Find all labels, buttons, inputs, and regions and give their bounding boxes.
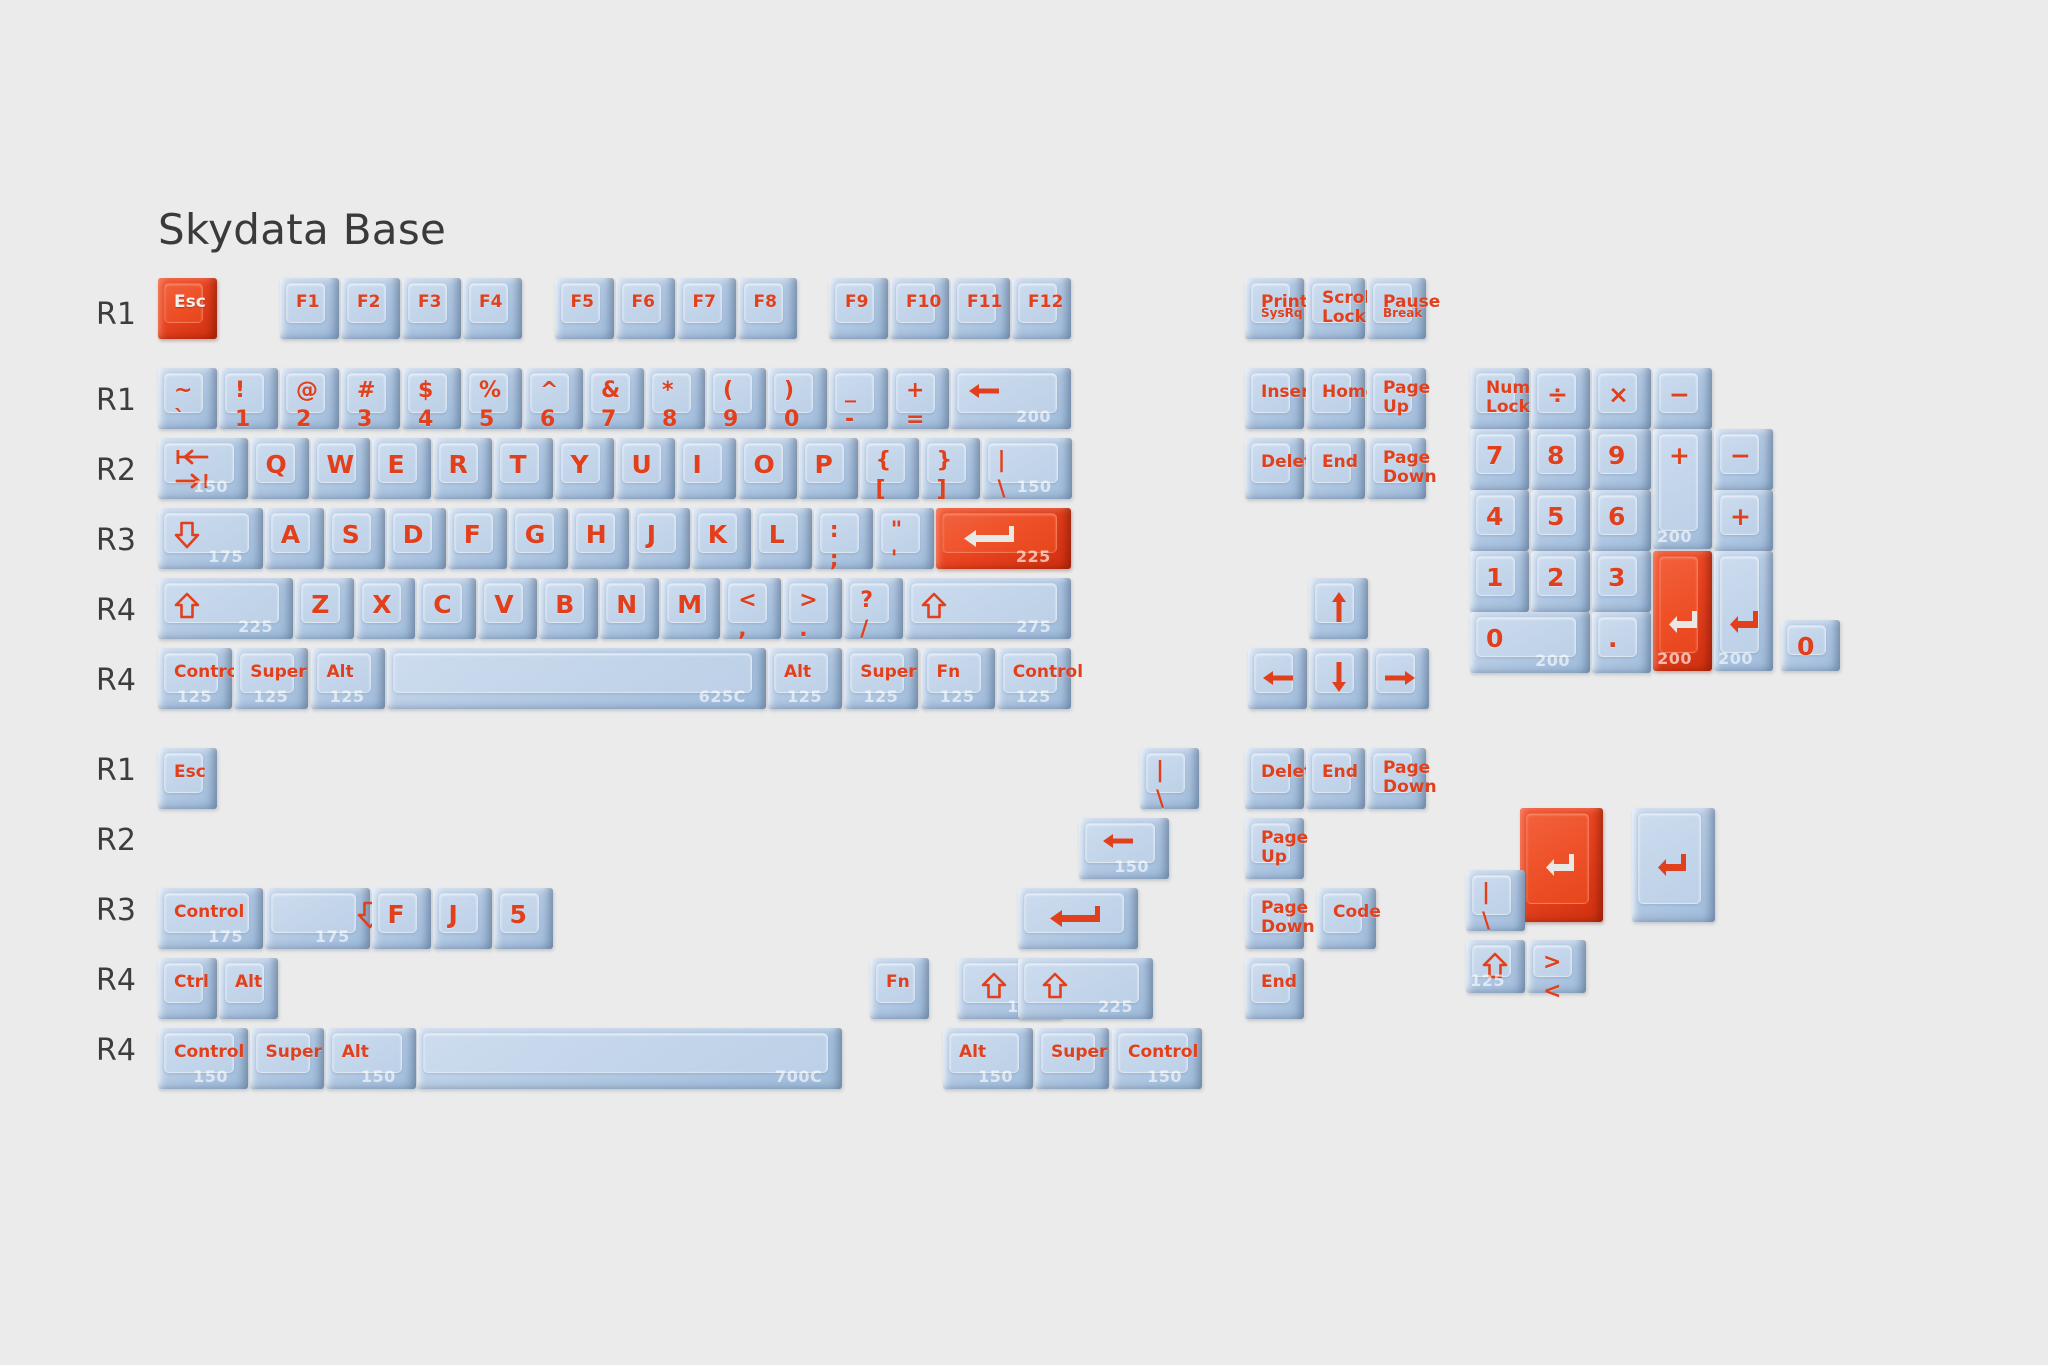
keycap-legend: 6 [540, 409, 555, 431]
keycap-d[interactable]: D [387, 508, 446, 569]
keycap-fn[interactable]: Fn125 [921, 648, 995, 709]
keycap-legend: F10 [906, 294, 941, 311]
keycap-esc-alt[interactable]: Esc [158, 748, 217, 809]
keycap-f2[interactable]: F2 [341, 278, 400, 339]
keycap-numpad-3[interactable]: 3 [1592, 551, 1651, 612]
keycap-numpad-9[interactable]: 9 [1592, 429, 1651, 490]
keycap-size-label: 225 [1098, 997, 1133, 1016]
keycap-numpad-1[interactable]: 1 [1470, 551, 1529, 612]
keycap-legend: Fn [937, 664, 961, 681]
keycap-f7[interactable]: F7 [677, 278, 736, 339]
keycap-size-label: 175 [208, 927, 243, 946]
keycap-legend: Lock [1322, 309, 1366, 326]
keycap-size-label: 150 [1114, 857, 1149, 876]
keycap-legend: | [998, 450, 1006, 472]
keycap-top-surface [439, 893, 478, 933]
keycap-legend: ; [830, 549, 839, 571]
keycap-f8[interactable]: F8 [738, 278, 797, 339]
keycap-legend: & [601, 380, 620, 402]
keycap-home[interactable]: Home [1306, 368, 1365, 429]
keycap-delete-alt[interactable]: Delete [1245, 748, 1304, 809]
keycap-enter-alt[interactable] [1018, 888, 1138, 949]
keycap-legend: R [449, 452, 468, 477]
keycap-legend: Alt [235, 974, 262, 991]
keycap-legend: Up [1261, 849, 1287, 866]
keycap-c[interactable]: C [417, 578, 476, 639]
keycap-legend: F5 [571, 294, 594, 311]
keycap-legend: Fn [886, 974, 910, 991]
keycap-alt-alt-150[interactable]: Alt150 [326, 1028, 416, 1089]
keycap-legend: B [555, 592, 574, 617]
keycap-numpad-7[interactable]: 7 [1470, 429, 1529, 490]
keycap-legend: U [632, 452, 652, 477]
keycap-numpad-5[interactable]: 5 [1531, 490, 1590, 551]
keycap-super-left[interactable]: Super125 [234, 648, 308, 709]
keycap-legend: | [1482, 882, 1490, 904]
keycap-legend: 3 [1608, 565, 1625, 590]
keycap-legend: ) [784, 380, 794, 402]
keycap-legend: Page [1261, 830, 1308, 847]
keycap-legend: × [1608, 382, 1629, 407]
keycap-super-alt[interactable]: Super [250, 1028, 324, 1089]
arrow-down-icon [1329, 660, 1349, 698]
keycap-f5[interactable]: F5 [555, 278, 614, 339]
keycap-arrow-left[interactable] [1248, 648, 1307, 709]
keycap-legend: 4 [418, 409, 433, 431]
keycap-top-surface [423, 1033, 828, 1073]
keycap-control-150[interactable]: Control150 [1112, 1028, 1202, 1089]
keycap-numpad-0-alt[interactable]: 0 [1781, 620, 1840, 671]
row-label-r1-extra: R1 [96, 753, 156, 788]
keycap-legend: Ctrl [174, 974, 209, 991]
keycap-equals[interactable]: += [890, 368, 949, 429]
keycap-h[interactable]: H [570, 508, 629, 569]
keycap-size-label: 125 [863, 687, 898, 706]
keycap-f11[interactable]: F11 [951, 278, 1010, 339]
keycap-page-up-alt[interactable]: PageUp [1245, 818, 1304, 879]
keycap-f9[interactable]: F9 [829, 278, 888, 339]
keycap-q[interactable]: Q [250, 438, 309, 499]
keycap-legend: 7 [1486, 443, 1503, 468]
keycap-legend: | [1156, 760, 1164, 782]
keycap-numpad-plus[interactable]: +200 [1653, 429, 1712, 549]
keycap-backspace-150[interactable]: 150 [1079, 818, 1169, 879]
arrow-up-icon [1329, 590, 1349, 628]
keycap-legend: F11 [967, 294, 1002, 311]
keycap-legend: 5 [510, 902, 527, 927]
keycap-size-label: 225 [238, 617, 273, 636]
keycap-legend: ] [937, 479, 947, 501]
keycap-numpad-enter[interactable]: 200 [1653, 551, 1712, 671]
row-label-r4: R4 [96, 593, 156, 628]
keycap-legend: - [845, 409, 854, 431]
keycap-page-down-alt2[interactable]: PageDown [1245, 888, 1304, 949]
keycap-digit-7[interactable]: &7 [585, 368, 644, 429]
keycap-semicolon[interactable]: :; [814, 508, 873, 569]
keycap-caps-alt-175[interactable]: 175 [265, 888, 370, 949]
keycap-bracket-right[interactable]: }] [921, 438, 980, 499]
keycap-control-right[interactable]: Control125 [997, 648, 1071, 709]
keycap-legend: W [327, 452, 355, 477]
keycap-esc[interactable]: Esc [158, 278, 217, 339]
keycap-legend: F4 [479, 294, 502, 311]
keycap-legend: − [1730, 443, 1751, 468]
keycap-legend: ` [174, 409, 185, 431]
keycap-size-label: 125 [177, 687, 212, 706]
keycap-j[interactable]: J [631, 508, 690, 569]
keycap-numpad-2[interactable]: 2 [1531, 551, 1590, 612]
keycap-legend: : [830, 520, 839, 542]
keycap-legend: \ [1156, 789, 1164, 811]
keycap-legend: 4 [1486, 504, 1503, 529]
keycap-k[interactable]: K [692, 508, 751, 569]
keycap-legend: . [1608, 626, 1618, 651]
keycap-legend: Break [1383, 307, 1422, 319]
keycap-numpad-enter-alt[interactable]: 200 [1714, 551, 1773, 671]
keycap-legend: C [433, 592, 451, 617]
keycap-legend: Down [1383, 469, 1437, 486]
keycap-numpad-minus[interactable]: − [1653, 368, 1712, 429]
keycap-legend: F [464, 522, 481, 547]
keycap-numpad-4[interactable]: 4 [1470, 490, 1529, 551]
keycap-legend: − [1669, 382, 1690, 407]
keycap-f4[interactable]: F4 [463, 278, 522, 339]
keycap-legend: \ [1482, 911, 1490, 933]
keycap-legend: Control [174, 904, 244, 921]
keycap-size-label: 150 [361, 1067, 396, 1086]
keycap-control-alt-150[interactable]: Control150 [158, 1028, 248, 1089]
row-label-r4-extra: R4 [96, 963, 156, 998]
keycap-top-surface [1472, 875, 1511, 915]
row-label-r1-fn: R1 [96, 297, 156, 332]
keycap-legend: K [708, 522, 727, 547]
keycap-a[interactable]: A [265, 508, 324, 569]
keycap-quote[interactable]: "' [875, 508, 934, 569]
keycap-digit-9[interactable]: (9 [707, 368, 766, 429]
keycap-caps-lock[interactable]: 175 [158, 508, 263, 569]
keycap-size-label: 175 [208, 547, 243, 566]
keycap-f3[interactable]: F3 [402, 278, 461, 339]
keycap-page-down-alt[interactable]: PageDown [1367, 748, 1426, 809]
keycap-f10[interactable]: F10 [890, 278, 949, 339]
keycap-num-lock[interactable]: NumLock [1470, 368, 1529, 429]
keycap-delete[interactable]: Delete [1245, 438, 1304, 499]
keycap-legend: F1 [296, 294, 319, 311]
keycap-top-surface [1146, 753, 1185, 793]
keycap-numpad-divide[interactable]: ÷ [1531, 368, 1590, 429]
keycap-size-label: 200 [1657, 527, 1692, 546]
keycap-alt-short[interactable]: Alt [219, 958, 278, 1019]
keycap-legend: F [388, 902, 405, 927]
keycap-legend: Super [860, 664, 916, 681]
keycap-space[interactable]: 625C [387, 648, 766, 709]
keycap-period[interactable]: >. [783, 578, 842, 639]
keycap-b[interactable]: B [539, 578, 598, 639]
keycap-iso-shift[interactable]: 125 [1466, 940, 1525, 993]
row-label-r3-extra: R3 [96, 893, 156, 928]
keycap-size-label: 150 [193, 1067, 228, 1086]
keycap-alt-right[interactable]: Alt125 [768, 648, 842, 709]
keycap-numpad-plus-alt[interactable]: + [1714, 490, 1773, 551]
keycap-legend: Z [311, 592, 329, 617]
keycap-top-surface [1598, 617, 1637, 657]
keycap-legend: ^ [540, 380, 558, 402]
keycap-legend: Super [266, 1044, 322, 1061]
keycap-size-label: 150 [1017, 477, 1052, 496]
keycap-numpad-0[interactable]: 0200 [1470, 612, 1590, 673]
keycap-legend: Alt [327, 664, 354, 681]
keycap-end-alt[interactable]: End [1306, 748, 1365, 809]
keycap-five-homing[interactable]: 5 [494, 888, 553, 949]
keycap-legend: SysRq [1261, 307, 1302, 319]
keycap-backslash[interactable]: |\150 [982, 438, 1072, 499]
keycap-size-label: 200 [1016, 407, 1051, 426]
keycap-legend: Control [174, 1044, 244, 1061]
keycap-pause[interactable]: PauseBreak [1367, 278, 1426, 339]
keycap-legend: 0 [1486, 626, 1503, 651]
keycap-legend: Control [1128, 1044, 1198, 1061]
keycap-legend: @ [296, 380, 318, 402]
keycap-e[interactable]: E [372, 438, 431, 499]
keycap-legend: G [525, 522, 546, 547]
keycap-alt-left[interactable]: Alt125 [311, 648, 385, 709]
keycap-legend: / [860, 619, 868, 641]
keycap-ctrl-short[interactable]: Ctrl [158, 958, 217, 1019]
keycap-legend: [ [876, 479, 886, 501]
keycap-legend: ' [891, 549, 898, 571]
keycap-numpad-minus-alt[interactable]: − [1714, 429, 1773, 490]
keycap-page-down[interactable]: PageDown [1367, 438, 1426, 499]
keycap-iso-backslash[interactable]: |\ [1466, 870, 1525, 931]
keycap-legend: ! [235, 380, 245, 402]
keycap-legend: E [388, 452, 405, 477]
keycap-bracket-left[interactable]: {[ [860, 438, 919, 499]
keycap-size-label: 125 [1470, 971, 1505, 990]
keycap-minus[interactable]: _- [829, 368, 888, 429]
keycap-arrow-right[interactable] [1370, 648, 1429, 709]
caps-icon [174, 520, 200, 554]
keycap-legend: ? [860, 590, 873, 612]
keycap-w[interactable]: W [311, 438, 370, 499]
keycap-legend: 3 [357, 409, 372, 431]
keycap-legend: Control [1013, 664, 1083, 681]
keycap-control-alt-175[interactable]: Control175 [158, 888, 263, 949]
keycap-backspace[interactable]: 200 [951, 368, 1071, 429]
keycap-iso-enter-blue[interactable] [1632, 808, 1715, 922]
keycap-legend: $ [418, 380, 433, 402]
keycap-digit-0[interactable]: )0 [768, 368, 827, 429]
keycap-legend: End [1322, 454, 1358, 471]
keycap-legend: Page [1383, 760, 1430, 777]
keycap-legend: . [799, 619, 807, 641]
keycap-insert[interactable]: Insert [1245, 368, 1304, 429]
keycap-legend: 0 [1797, 634, 1814, 659]
keycap-legend: Esc [174, 764, 206, 781]
keycap-z[interactable]: Z [295, 578, 354, 639]
keycap-p[interactable]: P [799, 438, 858, 499]
keycap-l[interactable]: L [753, 508, 812, 569]
keycap-digit-5[interactable]: %5 [463, 368, 522, 429]
keycap-m[interactable]: M [661, 578, 720, 639]
keycap-legend: M [677, 592, 702, 617]
enter-icon-sm [1544, 852, 1578, 886]
keycap-f6[interactable]: F6 [616, 278, 675, 339]
keycap-super-150[interactable]: Super [1035, 1028, 1109, 1089]
keycap-legend: P [815, 452, 833, 477]
keycap-legend: ~ [174, 380, 192, 402]
keycap-legend: 5 [1547, 504, 1564, 529]
keycap-f1[interactable]: F1 [280, 278, 339, 339]
keycap-o[interactable]: O [738, 438, 797, 499]
row-label-r4-mods: R4 [96, 663, 156, 698]
keycap-legend: , [738, 619, 746, 641]
keycap-legend: 2 [296, 409, 311, 431]
keycap-digit-3[interactable]: #3 [341, 368, 400, 429]
keycap-size-label: 125 [1016, 687, 1051, 706]
keycap-s[interactable]: S [326, 508, 385, 569]
keycap-n[interactable]: N [600, 578, 659, 639]
keycap-legend: J [647, 522, 656, 547]
keycap-arrow-up[interactable] [1309, 578, 1368, 639]
keycap-digit-1[interactable]: !1 [219, 368, 278, 429]
keycap-control-left[interactable]: Control125 [158, 648, 232, 709]
keycap-f-homing[interactable]: F [372, 888, 431, 949]
keycap-size-label: 125 [940, 687, 975, 706]
keycap-size-label: 125 [330, 687, 365, 706]
keycap-legend: J [449, 902, 458, 927]
keycap-print[interactable]: PrintSysRq [1245, 278, 1304, 339]
row-label-r3: R3 [96, 523, 156, 558]
keycap-u[interactable]: U [616, 438, 675, 499]
shift-icon [1042, 972, 1068, 1004]
keycap-legend: Num [1486, 380, 1530, 397]
keycap-legend: O [754, 452, 775, 477]
keycap-size-label: 200 [1535, 651, 1570, 670]
keycap-space-700[interactable]: 700C [417, 1028, 842, 1089]
keycap-legend: 7 [601, 409, 616, 431]
keycap-shift-left[interactable]: 225 [158, 578, 293, 639]
keycap-numpad-period[interactable]: . [1592, 612, 1651, 673]
keycap-t[interactable]: T [494, 438, 553, 499]
keycap-x[interactable]: X [356, 578, 415, 639]
keycap-digit-4[interactable]: $4 [402, 368, 461, 429]
keycap-arrow-down[interactable] [1309, 648, 1368, 709]
keycap-iso-angle[interactable]: >< [1527, 940, 1586, 993]
keycap-legend: Super [1051, 1044, 1107, 1061]
keycap-fn-alt[interactable]: Fn [870, 958, 929, 1019]
enter-icon-sm [1728, 609, 1762, 643]
keycap-size-label: 200 [1657, 649, 1692, 668]
keycap-numpad-8[interactable]: 8 [1531, 429, 1590, 490]
keycap-end[interactable]: End [1306, 438, 1365, 499]
keycap-size-label: 150 [1147, 1067, 1182, 1086]
keycap-legend: _ [845, 380, 856, 402]
keycap-comma[interactable]: <, [722, 578, 781, 639]
keycap-g[interactable]: G [509, 508, 568, 569]
keycap-legend: D [403, 522, 424, 547]
keycap-f12[interactable]: F12 [1012, 278, 1071, 339]
keycap-r[interactable]: R [433, 438, 492, 499]
keycap-legend: 9 [723, 409, 738, 431]
keycap-legend: Page [1261, 900, 1308, 917]
keycap-legend: A [281, 522, 300, 547]
keycap-size-label: 275 [1016, 617, 1051, 636]
row-label-r1-num: R1 [96, 383, 156, 418]
keycap-legend: = [906, 409, 924, 431]
keycap-legend: T [510, 452, 527, 477]
keycap-size-label: 225 [1016, 547, 1051, 566]
keycap-shift-right[interactable]: 275 [905, 578, 1071, 639]
keycap-enter[interactable]: 225 [936, 508, 1071, 569]
keycap-legend: F7 [693, 294, 716, 311]
keycap-legend: F2 [357, 294, 380, 311]
keycap-backslash-alt[interactable]: |\ [1140, 748, 1199, 809]
keycap-y[interactable]: Y [555, 438, 614, 499]
keycap-shift-225[interactable]: 225 [1018, 958, 1153, 1019]
keycap-v[interactable]: V [478, 578, 537, 639]
keycap-legend: Down [1383, 779, 1437, 796]
keycap-size-label: 700C [775, 1067, 822, 1086]
keycap-legend: Esc [174, 294, 206, 311]
keycap-scroll-lock[interactable]: ScrollLock [1306, 278, 1365, 339]
keycap-legend: 6 [1608, 504, 1625, 529]
enter-icon-sm [1656, 852, 1690, 886]
keycap-size-label: 125 [787, 687, 822, 706]
keycap-legend: } [937, 450, 953, 472]
keycap-legend: 5 [479, 409, 494, 431]
keycap-legend: F8 [754, 294, 777, 311]
keycap-legend: { [876, 450, 892, 472]
keycap-code[interactable]: Code [1317, 888, 1376, 949]
keycap-j-homing[interactable]: J [433, 888, 492, 949]
keycap-digit-2[interactable]: @2 [280, 368, 339, 429]
keycap-tab[interactable]: 150 [158, 438, 248, 499]
shift-icon [174, 592, 200, 624]
keycap-legend: F9 [845, 294, 868, 311]
keycap-numpad-6[interactable]: 6 [1592, 490, 1651, 551]
keycap-f[interactable]: F [448, 508, 507, 569]
keycap-legend: Code [1333, 904, 1381, 921]
keycap-legend: < [1543, 981, 1561, 1003]
keycap-top-surface [637, 513, 676, 553]
keycap-alt-150[interactable]: Alt150 [943, 1028, 1033, 1089]
keycap-grave[interactable]: ~` [158, 368, 217, 429]
enter-icon [1048, 904, 1102, 936]
keycap-iso-enter-red[interactable] [1520, 808, 1603, 922]
keycap-legend: \ [998, 479, 1006, 501]
keycap-size-label: 625C [699, 687, 746, 706]
keycap-legend: Alt [342, 1044, 369, 1061]
enter-icon-sm [1667, 609, 1701, 643]
keycap-legend: < [738, 590, 756, 612]
keycap-legend: > [799, 590, 817, 612]
keycap-i[interactable]: I [677, 438, 736, 499]
keycap-super-right[interactable]: Super125 [844, 648, 918, 709]
keycap-page-up[interactable]: PageUp [1367, 368, 1426, 429]
keycap-end-alt2[interactable]: End [1245, 958, 1304, 1019]
keycap-legend: 8 [662, 409, 677, 431]
keycap-numpad-multiply[interactable]: × [1592, 368, 1651, 429]
keycap-slash[interactable]: ?/ [844, 578, 903, 639]
keycap-digit-6[interactable]: ^6 [524, 368, 583, 429]
keycap-legend: S [342, 522, 360, 547]
keycap-legend: 8 [1547, 443, 1564, 468]
keycap-digit-8[interactable]: *8 [646, 368, 705, 429]
arrow-right-icon [1383, 668, 1417, 692]
keycap-legend: Up [1383, 399, 1409, 416]
keycap-legend: X [372, 592, 391, 617]
keycap-size-label: 150 [193, 477, 228, 496]
